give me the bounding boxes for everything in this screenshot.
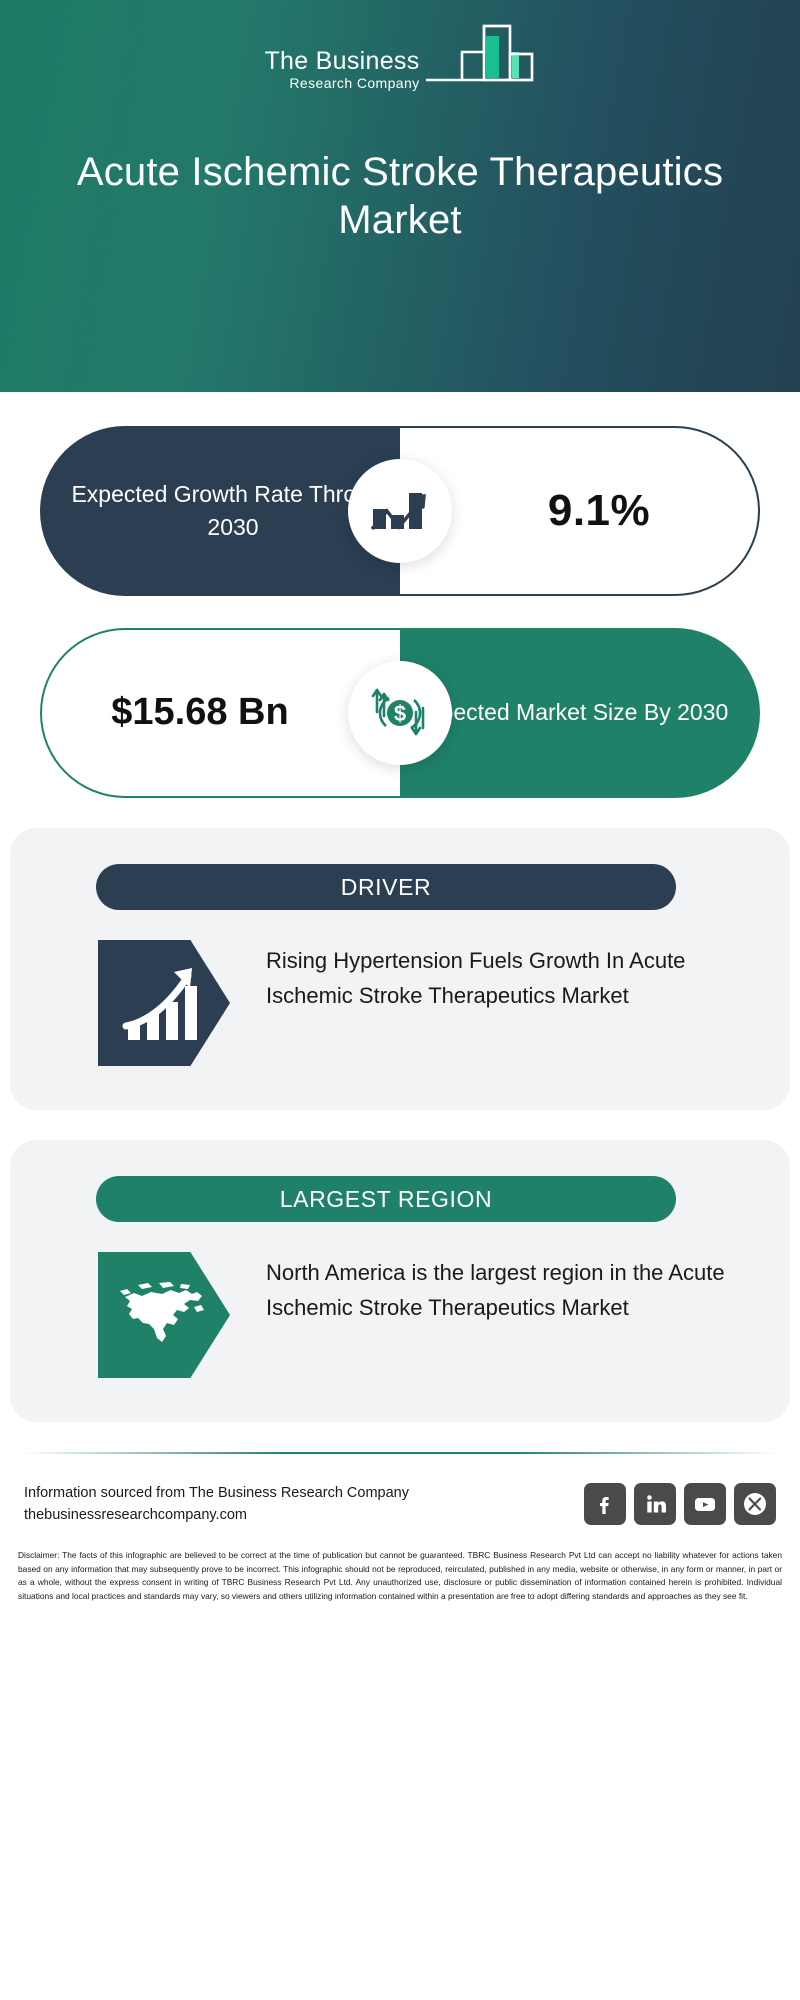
driver-text: Rising Hypertension Fuels Growth In Acut…: [266, 940, 730, 1014]
dollar-cycle-icon: $: [348, 661, 452, 765]
largest-region-text: North America is the largest region in t…: [266, 1252, 730, 1326]
stats-zone: Expected Growth Rate Through 2030 9.1% $…: [0, 426, 800, 798]
stat-value-container-market-size: $15.68 Bn: [40, 628, 400, 798]
source-attribution: Information sourced from The Business Re…: [24, 1482, 409, 1527]
company-logo: The Business Research Company: [0, 22, 800, 94]
facebook-icon[interactable]: [584, 1483, 626, 1525]
stat-card-market-size: $15.68 Bn Expected Market Size By 2030 $: [40, 628, 760, 798]
stat-label-market-size: Expected Market Size By 2030: [400, 628, 760, 798]
bar-chart-growth-icon: [348, 459, 452, 563]
logo-subtitle: Research Company: [264, 74, 419, 92]
north-america-map-icon: [98, 1252, 230, 1378]
infographic-page: The Business Research Company: [0, 0, 800, 2000]
logo-bar-chart-icon: [424, 22, 536, 93]
stat-card-growth-rate: Expected Growth Rate Through 2030 9.1%: [40, 426, 760, 596]
badge-driver: DRIVER: [96, 864, 676, 910]
largest-region-body: North America is the largest region in t…: [10, 1252, 790, 1378]
source-website[interactable]: thebusinessresearchcompany.com: [24, 1504, 409, 1526]
stat-label-growth-rate: Expected Growth Rate Through 2030: [40, 426, 400, 596]
source-line-1: Information sourced from The Business Re…: [24, 1482, 409, 1504]
logo-title: The Business: [264, 48, 419, 74]
linkedin-icon[interactable]: [634, 1483, 676, 1525]
header-banner: The Business Research Company: [0, 0, 800, 392]
growth-bars-arrow-icon: [98, 940, 230, 1066]
social-links: [584, 1483, 776, 1525]
source-row: Information sourced from The Business Re…: [0, 1454, 800, 1527]
x-twitter-icon[interactable]: [734, 1483, 776, 1525]
disclaimer-text: Disclaimer: The facts of this infographi…: [18, 1549, 782, 1603]
badge-largest-region: LARGEST REGION: [96, 1176, 676, 1222]
stat-value-growth-rate: 9.1%: [548, 486, 650, 536]
driver-body: Rising Hypertension Fuels Growth In Acut…: [10, 940, 790, 1066]
footer: Information sourced from The Business Re…: [0, 1452, 800, 1603]
svg-text:$: $: [394, 701, 406, 726]
largest-region-panel: LARGEST REGION North America is the larg…: [10, 1140, 790, 1422]
page-title: Acute Ischemic Stroke Therapeutics Marke…: [50, 148, 750, 244]
driver-panel: DRIVER Rising Hypertension Fuels Growth …: [10, 828, 790, 1110]
youtube-icon[interactable]: [684, 1483, 726, 1525]
stat-value-market-size: $15.68 Bn: [111, 689, 288, 737]
stat-value-container-growth-rate: 9.1%: [400, 426, 760, 596]
logo-text: The Business Research Company: [264, 48, 419, 94]
